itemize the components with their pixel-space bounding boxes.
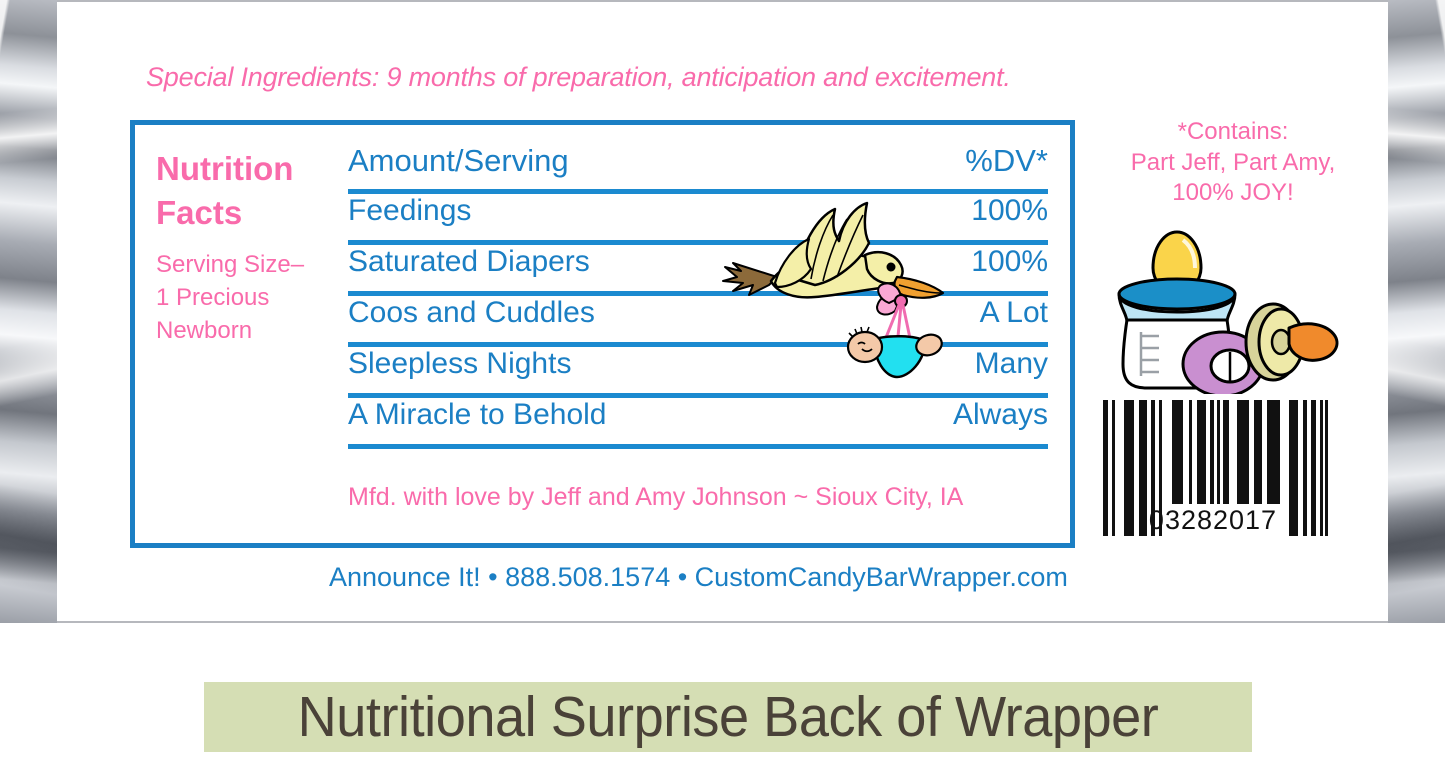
nutrition-facts-title-line2: Facts	[156, 191, 341, 235]
row-label: A Miracle to Behold	[348, 398, 606, 432]
nutrition-facts-table: Amount/Serving %DV* Feedings 100% Satura…	[348, 143, 1048, 449]
barcode: 03282017	[1097, 394, 1329, 542]
foil-edge-left	[0, 0, 58, 623]
row-value: Many	[975, 347, 1048, 381]
table-row: Saturated Diapers 100%	[348, 245, 1048, 296]
serving-size-line-2: 1 Precious	[156, 281, 341, 314]
row-label: Feedings	[348, 194, 471, 228]
table-row: Sleepless Nights Many	[348, 347, 1048, 398]
contains-line-3: 100% JOY!	[1093, 178, 1373, 209]
announce-contact-line: Announce It! • 888.508.1574 • CustomCand…	[329, 562, 1068, 593]
candy-bar-wrapper: Special Ingredients: 9 months of prepara…	[0, 0, 1445, 623]
barcode-number: 03282017	[1097, 505, 1329, 536]
foil-edge-right	[1388, 0, 1445, 623]
contains-note: *Contains: Part Jeff, Part Amy, 100% JOY…	[1093, 117, 1373, 209]
nutrition-facts-box: Nutrition Facts Serving Size– 1 Precious…	[130, 120, 1075, 548]
row-label: Sleepless Nights	[348, 347, 571, 381]
nutrition-facts-title-line1: Nutrition	[156, 147, 341, 191]
row-label: Saturated Diapers	[348, 245, 590, 279]
row-label: Coos and Cuddles	[348, 296, 595, 330]
row-value: 100%	[971, 194, 1048, 228]
column-header-amount-serving: Amount/Serving	[348, 143, 569, 179]
caption-text: Nutritional Surprise Back of Wrapper	[230, 682, 1226, 752]
serving-size-line-3: Newborn	[156, 314, 341, 347]
serving-size-text: Serving Size– 1 Precious Newborn	[156, 248, 341, 347]
baby-bottle-and-pacifier-icon	[1097, 224, 1347, 394]
wrapper-label: Special Ingredients: 9 months of prepara…	[57, 0, 1388, 623]
table-header-row: Amount/Serving %DV*	[348, 143, 1048, 194]
serving-size-line-1: Serving Size–	[156, 248, 341, 281]
row-value: A Lot	[980, 296, 1048, 330]
table-row: Feedings 100%	[348, 194, 1048, 245]
special-ingredients-line: Special Ingredients: 9 months of prepara…	[146, 62, 1011, 93]
caption-bar: Nutritional Surprise Back of Wrapper	[204, 682, 1252, 752]
nutrition-facts-title: Nutrition Facts	[156, 147, 341, 234]
column-header-dv: %DV*	[965, 143, 1048, 179]
contains-line-2: Part Jeff, Part Amy,	[1093, 148, 1373, 179]
row-value: 100%	[971, 245, 1048, 279]
contains-line-1: *Contains:	[1093, 117, 1373, 148]
row-value: Always	[953, 398, 1048, 432]
nutrition-facts-heading-column: Nutrition Facts Serving Size– 1 Precious…	[156, 147, 341, 347]
manufactured-by-line: Mfd. with love by Jeff and Amy Johnson ~…	[348, 483, 963, 512]
table-row: Coos and Cuddles A Lot	[348, 296, 1048, 347]
table-row: A Miracle to Behold Always	[348, 398, 1048, 449]
